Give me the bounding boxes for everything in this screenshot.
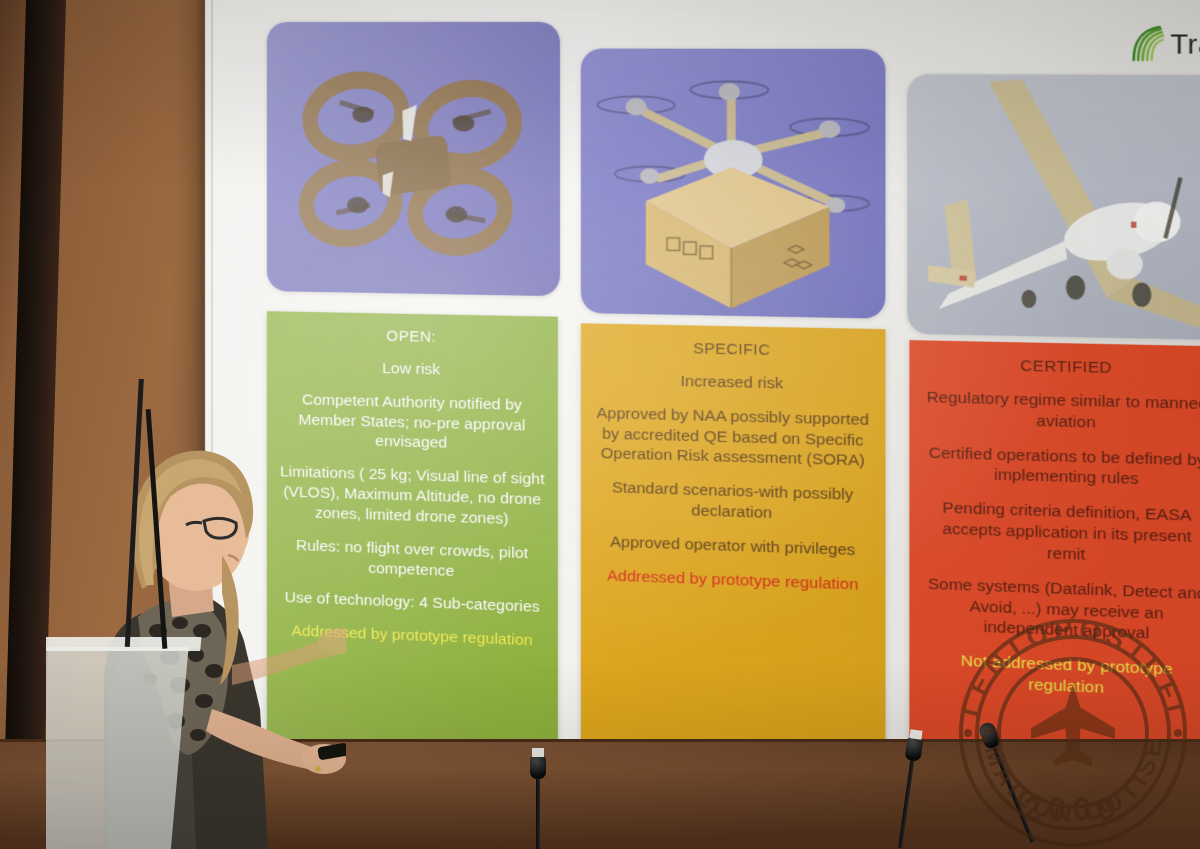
category-column-certified: CERTIFIED Regulatory regime similar to m… [909,340,1200,808]
category-title-open: OPEN: [279,325,546,348]
microphone [536,739,556,849]
category-line-highlight: Addressed by prototype regulation [594,565,872,596]
category-line: Standard scenarios-with possibly declara… [594,478,872,528]
fixed-wing-uav-photo [908,74,1200,340]
presenter [46,379,346,849]
slide-image-row [267,22,1200,323]
category-line: Some systems (Datalink, Detect and Avoid… [922,574,1200,648]
category-column-specific: SPECIFIC Increased risk Approved by NAA … [581,323,885,801]
category-line-highlight: Not addressed by prototype regulation [922,650,1200,704]
quadcopter-photo [267,22,560,296]
category-line: Increased risk [594,370,872,397]
slide-category-row: OPEN: Low risk Competent Authority notif… [267,311,1200,810]
presentation-photo: Trafi [0,0,1200,849]
category-title-specific: SPECIFIC [594,338,872,361]
delivery-drone-photo [581,49,886,319]
category-line: Approved by NAA possibly supported by ac… [594,403,872,472]
category-line: Pending criteria definition, EASA accept… [922,498,1200,570]
category-line: Regulatory regime similar to manned avia… [922,388,1200,437]
category-line: Approved operator with privileges [594,532,872,562]
projection-screen: Trafi [205,0,1200,830]
projected-slide: Trafi [257,7,1200,820]
category-title-certified: CERTIFIED [922,355,1200,379]
category-line: Certified operations to be defined by im… [922,443,1200,493]
